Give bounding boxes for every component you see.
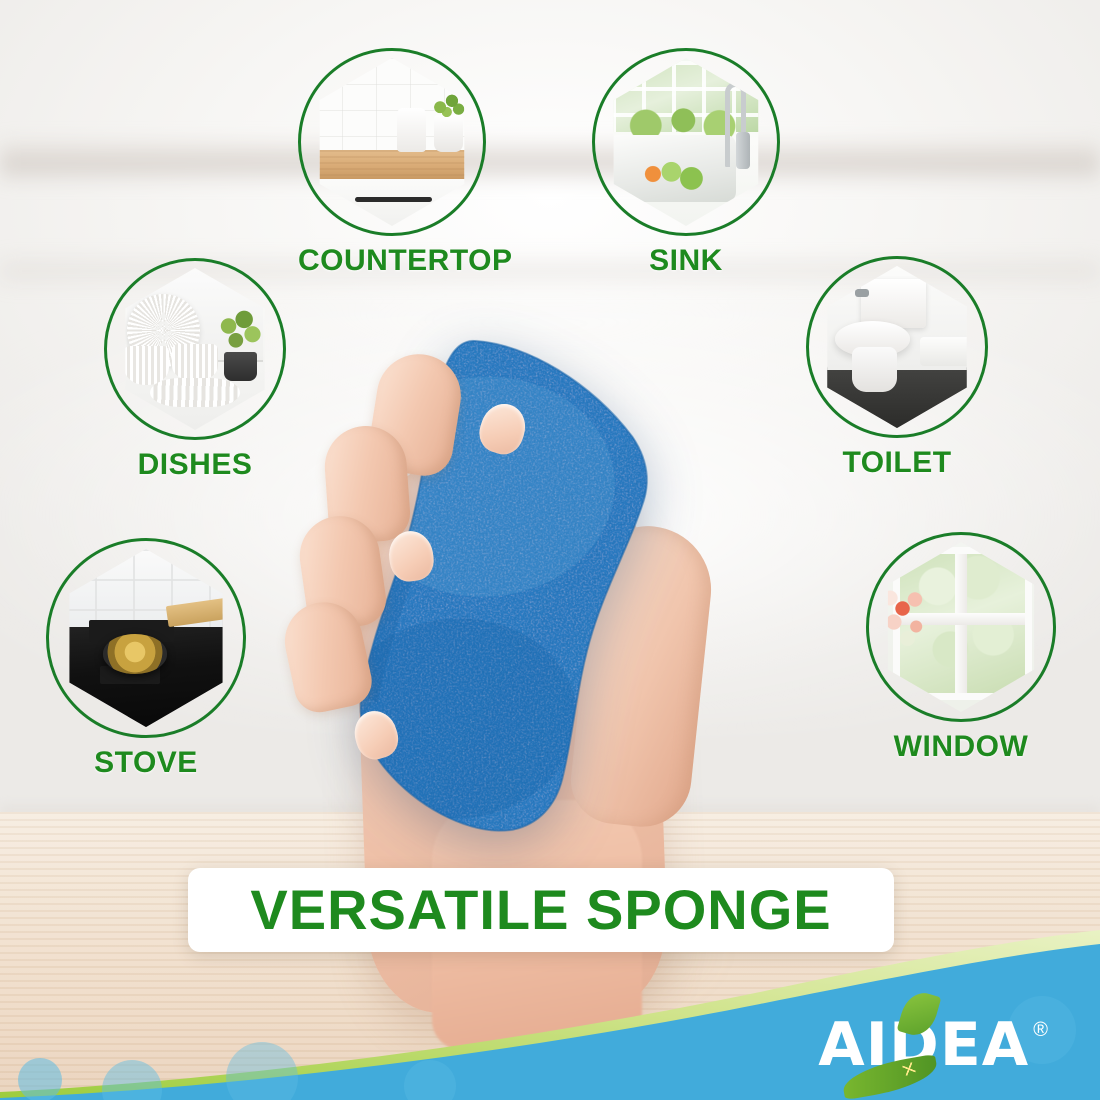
sink-ring xyxy=(592,48,780,236)
countertop-ring xyxy=(298,48,486,236)
callout-toilet: TOILET xyxy=(806,256,988,492)
callout-dishes: DISHES xyxy=(104,258,286,494)
callout-label-toilet: TOILET xyxy=(806,446,988,480)
callout-label-sink: SINK xyxy=(592,244,780,278)
brand-footer: AIDEA ® xyxy=(0,930,1100,1100)
callout-label-stove: STOVE xyxy=(46,746,246,780)
brand-logo: AIDEA ® xyxy=(818,1018,1048,1073)
callout-stove: STOVE xyxy=(46,538,246,790)
window-ring xyxy=(866,532,1056,722)
toilet-ring xyxy=(806,256,988,438)
callout-countertop: COUNTERTOP xyxy=(298,48,486,286)
callout-window: WINDOW xyxy=(866,532,1056,780)
product-marketing-image: COUNTERTOP SINK DISHES xyxy=(0,0,1100,1100)
callout-label-dishes: DISHES xyxy=(104,448,286,482)
callout-label-countertop: COUNTERTOP xyxy=(298,244,486,278)
stove-ring xyxy=(46,538,246,738)
background-shelf-upper xyxy=(0,138,1100,184)
dishes-ring xyxy=(104,258,286,440)
callout-sink: SINK xyxy=(592,48,780,286)
registered-mark: ® xyxy=(1033,1020,1048,1040)
callout-label-window: WINDOW xyxy=(866,730,1056,764)
